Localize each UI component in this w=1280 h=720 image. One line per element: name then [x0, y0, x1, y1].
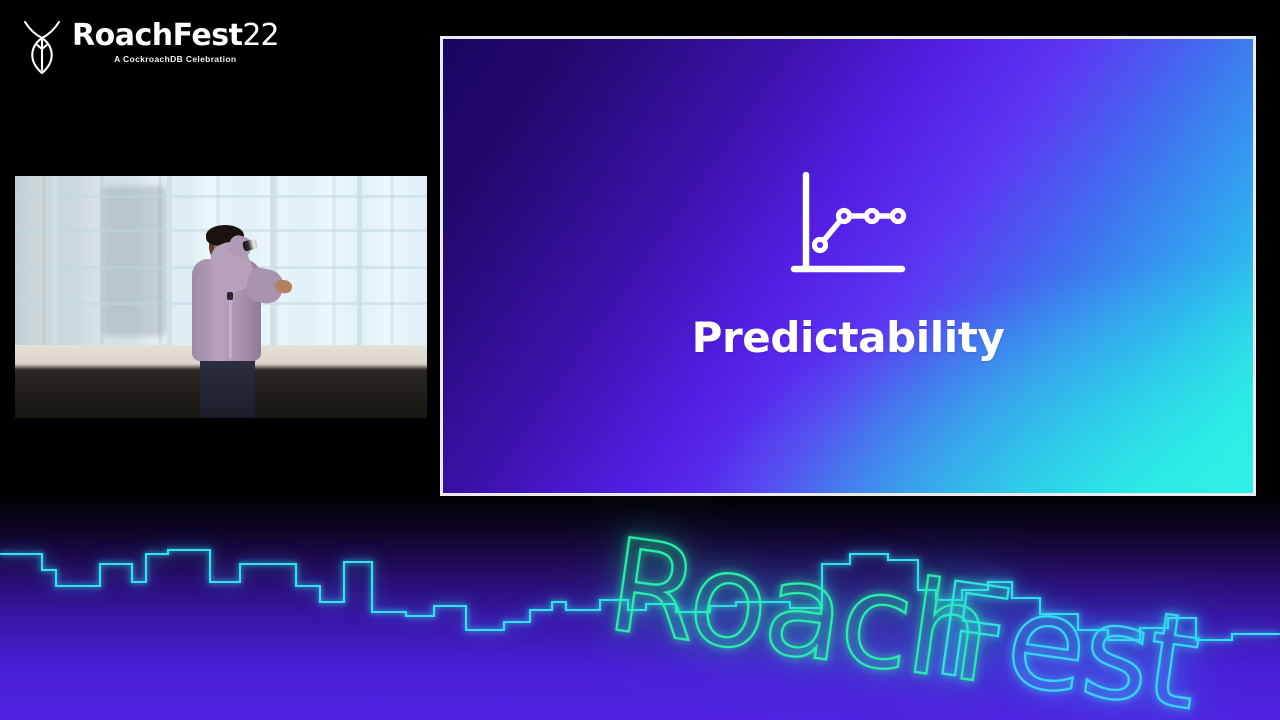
speaker-video-tile[interactable]: [15, 176, 427, 418]
roachfest-logo: RoachFest22 A CockroachDB Celebration: [22, 18, 279, 76]
slide-title: Predictability: [692, 313, 1005, 362]
broadcast-stage: Roach F est RoachFest22 A CockroachDB Ce…: [0, 0, 1280, 720]
background-pillar: [102, 186, 168, 336]
logo-title-main: RoachFest: [72, 18, 242, 53]
microphone-icon: [242, 239, 258, 252]
blind-band-1: [15, 195, 427, 198]
presentation-slide[interactable]: Predictability: [440, 36, 1256, 496]
line-chart-icon: [786, 171, 910, 287]
slide-gradient-background: Predictability: [443, 39, 1253, 493]
logo-tagline: A CockroachDB Celebration: [72, 54, 279, 64]
speaker-figure: [180, 227, 291, 418]
city-skyline-graphic: [0, 490, 1280, 720]
video-scene: [15, 176, 427, 418]
cockroach-outline-icon: [22, 18, 62, 76]
logo-title-year: 22: [242, 18, 278, 53]
logo-title: RoachFest22: [72, 21, 279, 52]
slide-content: Predictability: [443, 39, 1253, 493]
speaker-legs: [200, 353, 256, 418]
lavalier-mic-icon: [227, 292, 234, 301]
